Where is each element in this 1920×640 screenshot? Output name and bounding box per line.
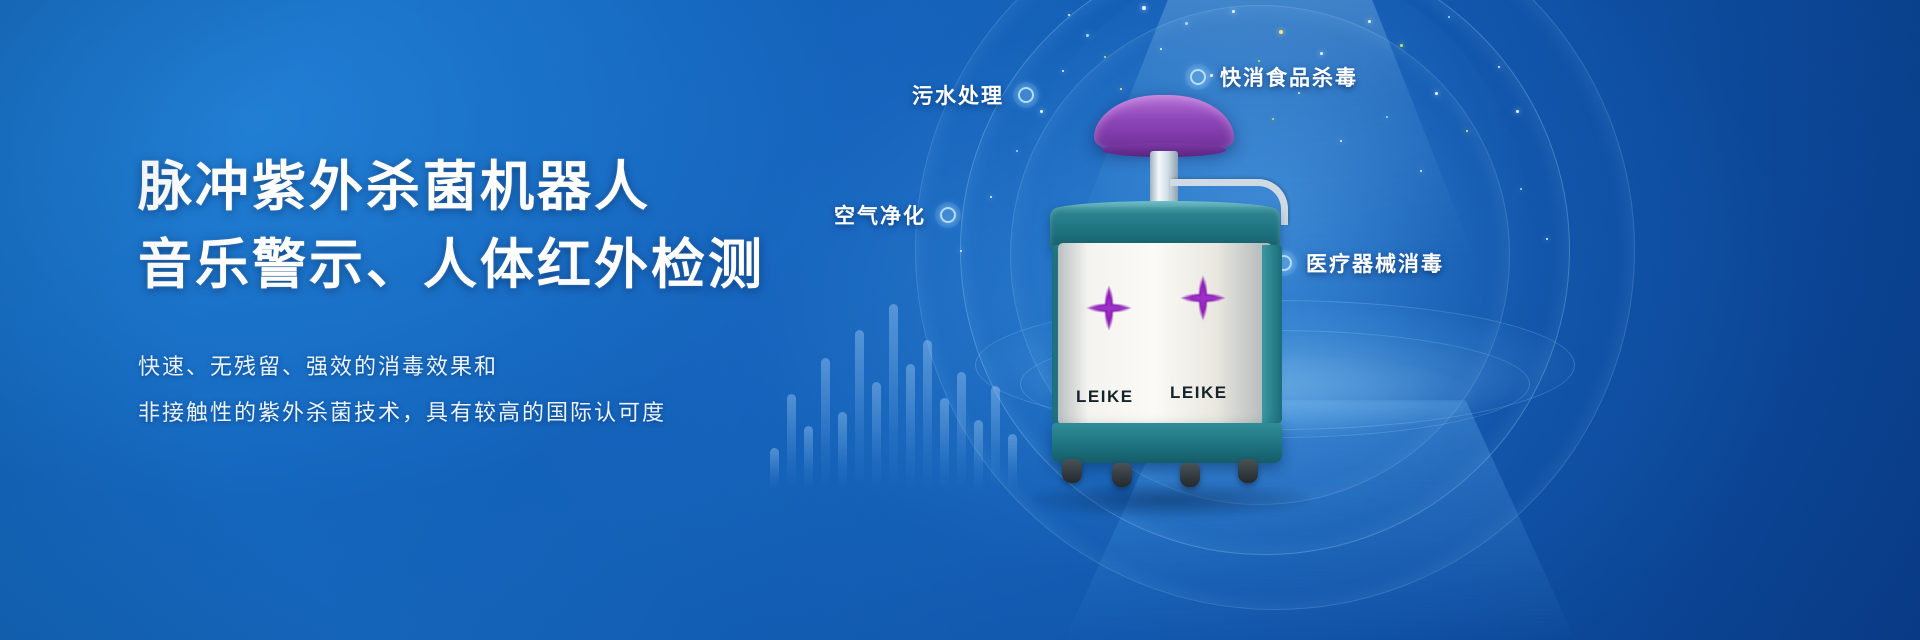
sparkle-dot (1420, 170, 1422, 172)
caster-wheel (1112, 463, 1132, 487)
equalizer-bar (923, 340, 932, 490)
robot-base (1052, 423, 1282, 463)
sparkle-star-icon (1180, 275, 1226, 321)
sparkle-dot (1298, 92, 1300, 94)
sparkle-dot (1466, 130, 1468, 132)
caster-wheel (1062, 459, 1082, 483)
sparkle-dot (1062, 70, 1064, 72)
equalizer-bar (974, 420, 983, 490)
sparkle-dot (990, 196, 992, 198)
sparkle-star-icon (1086, 285, 1132, 331)
sparkle-dot (1340, 140, 1342, 142)
caster-wheel (1180, 463, 1200, 487)
equalizer-bar (940, 398, 949, 490)
body-edge-right (1262, 245, 1282, 423)
subcopy-line-1: 快速、无残留、强效的消毒效果和 (138, 344, 898, 390)
callout-label: 医疗器械消毒 (1306, 248, 1444, 278)
sparkle-dot (1498, 66, 1500, 68)
equalizer-bar (991, 386, 1000, 490)
sparkle-dot (1279, 30, 1283, 34)
sparkle-dot (1086, 34, 1089, 37)
headline-line-2: 音乐警示、人体红外检测 (138, 228, 898, 302)
sparkle-dot (1016, 150, 1018, 152)
brand-logo-left: LEIKE (1076, 387, 1134, 407)
callout-label: 空气净化 (834, 200, 926, 230)
sparkle-dot (1232, 10, 1235, 13)
equalizer-bar (906, 364, 915, 490)
equalizer-bar (957, 372, 966, 490)
sparkle-dot (1185, 22, 1188, 25)
headline-line-1: 脉冲紫外杀菌机器人 (138, 150, 898, 224)
sparkle-dot (1142, 6, 1146, 10)
node-dot-icon (940, 207, 956, 223)
callout-sewage-treatment[interactable]: 污水处理 (912, 80, 1034, 110)
sparkle-dot (1516, 110, 1519, 113)
sparkle-dot (1386, 116, 1388, 118)
callout-label: 快消食品杀毒 (1220, 62, 1358, 92)
brand-logo-right: LEIKE (1170, 383, 1228, 403)
sparkle-dot (1546, 238, 1548, 240)
hero-banner: 脉冲紫外杀菌机器人 音乐警示、人体红外检测 快速、无残留、强效的消毒效果和 非接… (0, 0, 1920, 640)
subcopy-line-2: 非接触性的紫外杀菌技术，具有较高的国际认可度 (138, 390, 898, 436)
sparkle-dot (1448, 16, 1450, 18)
callout-air-purification[interactable]: 空气净化 (834, 200, 956, 230)
caster-wheel (1238, 459, 1258, 483)
uv-robot-illustration: LEIKE LEIKE (1030, 95, 1300, 505)
sparkle-dot (1368, 20, 1371, 23)
node-dot-icon (1190, 69, 1206, 85)
callout-medical-disinfection[interactable]: 医疗器械消毒 (1276, 248, 1444, 278)
hero-copy: 脉冲紫外杀菌机器人 音乐警示、人体红外检测 快速、无残留、强效的消毒效果和 非接… (138, 150, 898, 436)
callout-food-sterilization[interactable]: 快消食品杀毒 (1190, 62, 1358, 92)
callout-label: 污水处理 (912, 80, 1004, 110)
sparkle-dot (1068, 14, 1070, 16)
sparkle-dot (1400, 44, 1403, 47)
sparkle-dot (960, 250, 962, 252)
sparkle-dot (1160, 48, 1162, 50)
robot-ground-shadow (1030, 483, 1310, 517)
sparkle-dot (1435, 92, 1438, 95)
equalizer-bar (1008, 434, 1017, 490)
sparkle-dot (1320, 52, 1323, 55)
equalizer-bar (770, 448, 779, 490)
sparkle-dot (1120, 88, 1122, 90)
sparkle-dot (1104, 56, 1106, 58)
sparkle-dot (1520, 188, 1522, 190)
